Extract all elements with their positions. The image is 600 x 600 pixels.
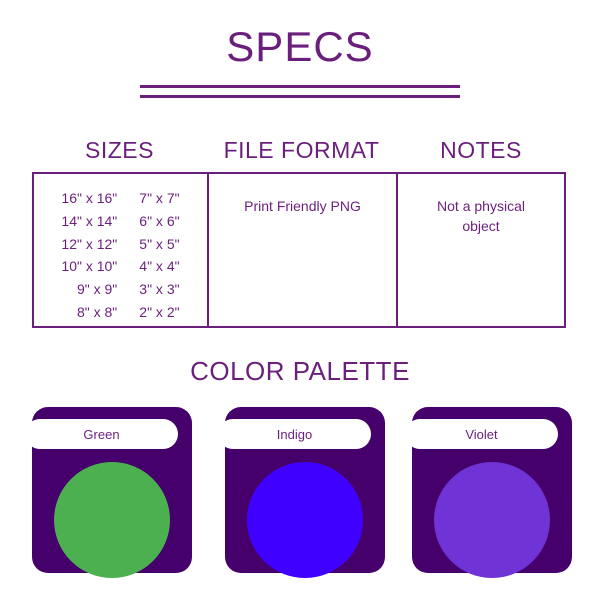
cell-file-format: Print Friendly PNG: [209, 174, 398, 326]
size-item: 12" x 12": [61, 233, 117, 256]
column-header-file-format: FILE FORMAT: [207, 131, 396, 169]
swatch-circle-indigo: [247, 462, 363, 578]
size-item: 9" x 9": [61, 278, 117, 301]
size-item: 6" x 6": [139, 210, 179, 233]
swatch-card-indigo: Indigo: [225, 407, 385, 573]
page-title: SPECS: [0, 26, 600, 68]
spec-table: 16" x 16" 14" x 14" 12" x 12" 10" x 10" …: [32, 172, 566, 328]
title-divider-bottom: [140, 95, 460, 98]
sizes-grid: 16" x 16" 14" x 14" 12" x 12" 10" x 10" …: [34, 174, 207, 324]
swatch-circle-violet: [434, 462, 550, 578]
size-item: 8" x 8": [61, 301, 117, 324]
swatch-card-green: Green: [32, 407, 192, 573]
swatch-pill-violet: Violet: [405, 419, 558, 449]
size-item: 16" x 16": [61, 187, 117, 210]
swatch-label: Violet: [465, 428, 497, 441]
swatch-label: Indigo: [277, 428, 312, 441]
notes-value: Not a physical object: [398, 196, 564, 237]
size-item: 5" x 5": [139, 233, 179, 256]
file-format-value: Print Friendly PNG: [209, 196, 396, 216]
palette-row: Green Indigo Violet: [0, 407, 600, 582]
cell-notes: Not a physical object: [398, 174, 564, 326]
swatch-label: Green: [83, 428, 119, 441]
size-item: 3" x 3": [139, 278, 179, 301]
palette-title: COLOR PALETTE: [0, 358, 600, 384]
cell-sizes: 16" x 16" 14" x 14" 12" x 12" 10" x 10" …: [34, 174, 209, 326]
spec-table-headers: SIZES FILE FORMAT NOTES: [32, 131, 566, 169]
swatch-circle-green: [54, 462, 170, 578]
column-header-notes: NOTES: [396, 131, 566, 169]
sizes-column-right: 7" x 7" 6" x 6" 5" x 5" 4" x 4" 3" x 3" …: [139, 187, 179, 324]
column-header-sizes: SIZES: [32, 131, 207, 169]
swatch-pill-indigo: Indigo: [218, 419, 371, 449]
sizes-column-left: 16" x 16" 14" x 14" 12" x 12" 10" x 10" …: [61, 187, 117, 324]
size-item: 7" x 7": [139, 187, 179, 210]
size-item: 2" x 2": [139, 301, 179, 324]
size-item: 4" x 4": [139, 255, 179, 278]
swatch-card-violet: Violet: [412, 407, 572, 573]
size-item: 14" x 14": [61, 210, 117, 233]
title-divider-top: [140, 85, 460, 88]
swatch-pill-green: Green: [25, 419, 178, 449]
size-item: 10" x 10": [61, 255, 117, 278]
